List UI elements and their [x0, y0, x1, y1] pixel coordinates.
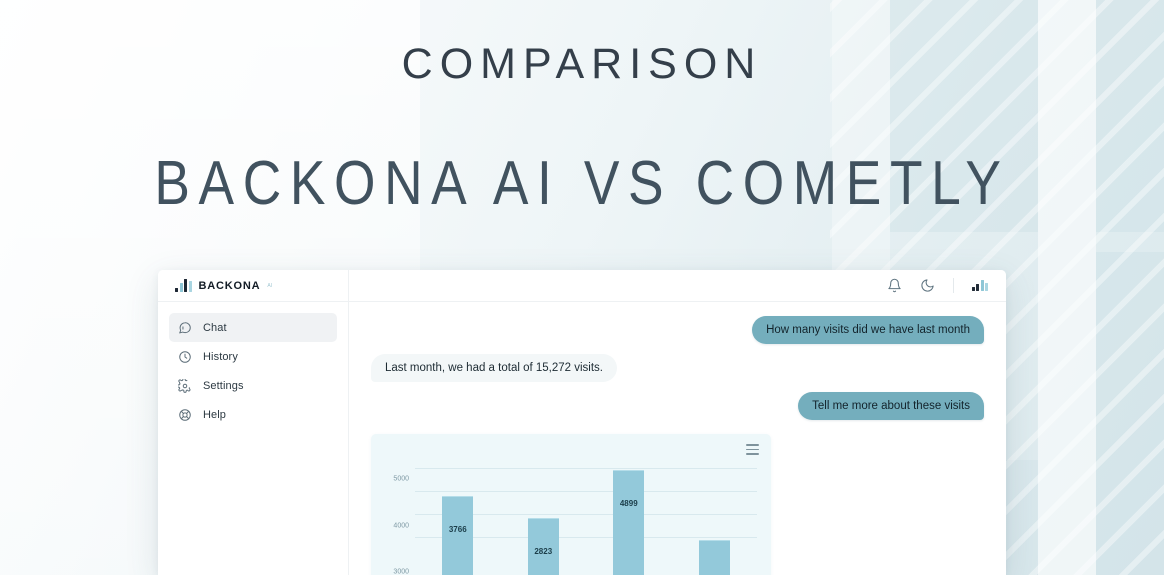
topbar-divider [953, 278, 954, 293]
chart-y-tick-label: 3000 [393, 569, 409, 575]
message-row: 5000400030002000 376628234899 [371, 430, 984, 575]
bar-chart-logo-icon [175, 279, 192, 292]
chart-bar-slot[interactable]: 4899 [586, 456, 672, 575]
topbar-actions [887, 278, 1007, 293]
chart-bar-slot[interactable]: 3766 [415, 456, 501, 575]
sidebar-item-chat[interactable]: Chat [169, 313, 337, 342]
sidebar-item-label: Settings [203, 380, 244, 392]
assistant-message-bubble: Last month, we had a total of 15,272 vis… [371, 354, 617, 382]
chart-bar-slot[interactable] [672, 456, 758, 575]
message-row: How many visits did we have last month [371, 316, 984, 344]
chat-panel: How many visits did we have last month L… [349, 302, 1006, 575]
sidebar-item-help[interactable]: Help [169, 400, 337, 429]
chart-bar-value-label: 2823 [534, 547, 552, 556]
chart-y-tick-label: 4000 [393, 522, 409, 529]
message-row: Tell me more about these visits [371, 392, 984, 420]
chart-bar[interactable] [699, 540, 730, 575]
brand-name: BACKONA [199, 280, 261, 292]
sidebar-item-label: Help [203, 409, 226, 421]
sidebar-item-settings[interactable]: Settings [169, 371, 337, 400]
slide-headline: BACKONA AI VS COMETLY [81, 148, 1082, 219]
chart-y-tick-label: 5000 [393, 476, 409, 483]
app-body: Chat History Settings [158, 302, 1006, 575]
chart-bars: 376628234899 [415, 456, 757, 575]
chart-bar[interactable] [442, 496, 473, 575]
chart-bar-slot[interactable]: 2823 [501, 456, 587, 575]
message-row: Last month, we had a total of 15,272 vis… [371, 354, 984, 382]
bell-icon[interactable] [887, 278, 902, 293]
chart-bar-value-label: 4899 [620, 499, 638, 508]
sidebar: Chat History Settings [158, 302, 349, 575]
user-message-bubble: Tell me more about these visits [798, 392, 984, 420]
moon-icon[interactable] [920, 278, 935, 293]
sidebar-item-history[interactable]: History [169, 342, 337, 371]
chat-bubble-icon [178, 321, 192, 335]
avatar-logo-icon[interactable] [972, 280, 989, 291]
app-topbar: BACKONA AI [158, 270, 1006, 302]
chart-bar-value-label: 3766 [449, 525, 467, 534]
clock-icon [178, 350, 192, 364]
user-message-bubble: How many visits did we have last month [752, 316, 984, 344]
chart-bar[interactable] [613, 470, 644, 575]
sidebar-item-label: History [203, 351, 238, 363]
life-ring-icon [178, 408, 192, 422]
brand-superscript: AI [267, 283, 272, 289]
app-window: BACKONA AI [158, 270, 1006, 575]
slide-eyebrow: COMPARISON [0, 40, 1164, 89]
bar-chart: 5000400030002000 376628234899 [415, 456, 757, 575]
brand[interactable]: BACKONA AI [158, 270, 349, 301]
gear-icon [178, 379, 192, 393]
chart-card: 5000400030002000 376628234899 [371, 434, 771, 575]
chart-menu-icon[interactable] [746, 444, 759, 455]
sidebar-item-label: Chat [203, 322, 227, 334]
